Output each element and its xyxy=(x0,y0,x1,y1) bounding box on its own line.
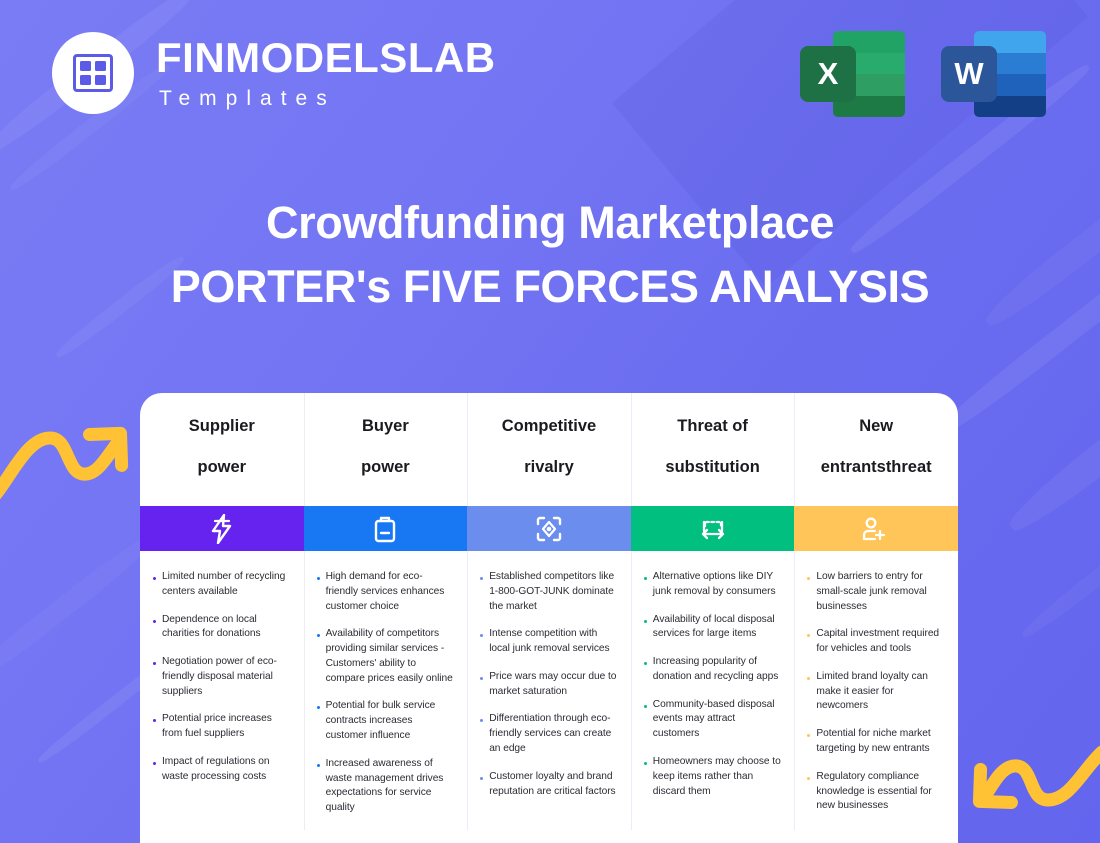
bullet-dot xyxy=(317,577,320,580)
list-item: Potential price increases from fuel supp… xyxy=(149,712,291,742)
bullet-dot xyxy=(317,706,320,709)
list-item: Availability of competitors providing si… xyxy=(313,627,455,686)
column-supplier-power: Supplier power Limited number of recycli… xyxy=(140,393,304,843)
column-header-line2: entrantsthreat xyxy=(821,457,932,478)
column-header-line1: Supplier xyxy=(189,416,255,437)
bullet-dot xyxy=(644,705,647,708)
brand-title: FINMODELSLAB xyxy=(156,37,496,79)
column-header-buyer-power: Buyer power xyxy=(304,393,468,506)
bullet-dot xyxy=(153,719,156,722)
list-item: Differentiation through eco-friendly ser… xyxy=(476,712,618,756)
header: FINMODELSLAB Templates X xyxy=(0,0,1100,150)
list-item: Capital investment required for vehicles… xyxy=(803,627,945,657)
excel-icon-letter: X xyxy=(818,56,839,92)
bullet-dot xyxy=(153,620,156,623)
bullet-dot xyxy=(317,764,320,767)
list-item: Community-based disposal events may attr… xyxy=(640,698,782,742)
column-header-new-entrants-threat: New entrantsthreat xyxy=(794,393,958,506)
bullet-dot xyxy=(644,577,647,580)
lightning-bolt-icon xyxy=(209,514,235,544)
bullet-dot xyxy=(644,620,647,623)
bullet-dot xyxy=(807,577,810,580)
column-buyer-power: Buyer power High demand for eco-friendly… xyxy=(304,393,468,843)
column-header-line2: substitution xyxy=(665,457,759,478)
briefcase-icon xyxy=(371,514,399,544)
word-icon-letter: W xyxy=(954,56,983,92)
column-header-line1: Competitive xyxy=(502,416,596,437)
background-brush-7 xyxy=(0,528,161,692)
bullet-list-buyer-power: High demand for eco-friendly services en… xyxy=(304,551,468,843)
brand-subtitle: Templates xyxy=(156,88,496,109)
list-item: Low barriers to entry for small-scale ju… xyxy=(803,570,945,614)
bullet-dot xyxy=(644,762,647,765)
list-item: Impact of regulations on waste processin… xyxy=(149,755,291,785)
bullet-dot xyxy=(153,662,156,665)
page-title: Crowdfunding Marketplace PORTER's FIVE F… xyxy=(0,196,1100,315)
list-item: High demand for eco-friendly services en… xyxy=(313,570,455,614)
word-icon: W xyxy=(941,28,1046,120)
list-item: Limited number of recycling centers avai… xyxy=(149,570,291,600)
bullet-list-supplier-power: Limited number of recycling centers avai… xyxy=(140,551,304,843)
icon-strip-new-entrants-threat xyxy=(794,506,958,551)
bullet-dot xyxy=(153,577,156,580)
bullet-dot xyxy=(480,777,483,780)
porters-five-forces-table: Supplier power Limited number of recycli… xyxy=(140,393,958,843)
column-header-line1: Threat of xyxy=(665,416,759,437)
background-brush-6 xyxy=(1003,331,1100,539)
list-item: Negotiation power of eco-friendly dispos… xyxy=(149,655,291,699)
bullet-dot xyxy=(480,719,483,722)
brand-logo[interactable]: FINMODELSLAB Templates xyxy=(52,32,496,114)
list-item: Homeowners may choose to keep items rath… xyxy=(640,755,782,799)
poster-canvas: FINMODELSLAB Templates X xyxy=(0,0,1100,843)
icon-strip-buyer-power xyxy=(304,506,468,551)
column-header-line2: power xyxy=(361,457,410,478)
list-item: Customer loyalty and brand reputation ar… xyxy=(476,770,618,800)
target-focus-icon xyxy=(534,514,564,544)
exchange-arrows-icon xyxy=(697,514,729,544)
squiggle-arrow-up-right-icon xyxy=(0,408,134,500)
column-header-supplier-power: Supplier power xyxy=(140,393,304,506)
squiggle-arrow-down-left-icon xyxy=(958,744,1100,843)
word-icon-badge: W xyxy=(941,46,997,102)
column-new-entrants-threat: New entrantsthreat Low barriers to entry… xyxy=(794,393,958,843)
column-header-line2: rivalry xyxy=(502,457,596,478)
bullet-dot xyxy=(644,662,647,665)
column-header-competitive-rivalry: Competitive rivalry xyxy=(467,393,631,506)
grid-squares-icon xyxy=(52,32,134,114)
bullet-list-competitive-rivalry: Established competitors like 1-800-GOT-J… xyxy=(467,551,631,843)
icon-strip-threat-of-substitution xyxy=(631,506,795,551)
list-item: Limited brand loyalty can make it easier… xyxy=(803,670,945,714)
list-item: Intense competition with local junk remo… xyxy=(476,627,618,657)
bullet-dot xyxy=(807,634,810,637)
bullet-dot xyxy=(807,777,810,780)
office-icon-group: X W xyxy=(800,28,1046,120)
bullet-list-threat-of-substitution: Alternative options like DIY junk remova… xyxy=(631,551,795,843)
list-item: Price wars may occur due to market satur… xyxy=(476,670,618,700)
bullet-dot xyxy=(480,577,483,580)
list-item: Established competitors like 1-800-GOT-J… xyxy=(476,570,618,614)
page-title-line2: PORTER's FIVE FORCES ANALYSIS xyxy=(0,260,1100,315)
list-item: Potential for bulk service contracts inc… xyxy=(313,699,455,743)
bullet-dot xyxy=(153,762,156,765)
list-item: Increased awareness of waste management … xyxy=(313,757,455,816)
column-header-threat-of-substitution: Threat of substitution xyxy=(631,393,795,506)
list-item: Availability of local disposal services … xyxy=(640,613,782,643)
bullet-dot xyxy=(317,634,320,637)
icon-strip-supplier-power xyxy=(140,506,304,551)
list-item: Dependence on local charities for donati… xyxy=(149,613,291,643)
bullet-dot xyxy=(807,677,810,680)
column-competitive-rivalry: Competitive rivalry Established xyxy=(467,393,631,843)
icon-strip-competitive-rivalry xyxy=(467,506,631,551)
add-user-icon xyxy=(858,514,888,544)
background-brush-9 xyxy=(1018,494,1100,642)
column-header-line2: power xyxy=(189,457,255,478)
table-grid: Supplier power Limited number of recycli… xyxy=(140,393,958,843)
bullet-dot xyxy=(480,677,483,680)
page-title-line1: Crowdfunding Marketplace xyxy=(0,196,1100,251)
bullet-list-new-entrants-threat: Low barriers to entry for small-scale ju… xyxy=(794,551,958,843)
list-item: Alternative options like DIY junk remova… xyxy=(640,570,782,600)
column-header-line1: Buyer xyxy=(361,416,410,437)
bullet-dot xyxy=(480,634,483,637)
excel-icon-badge: X xyxy=(800,46,856,102)
column-header-line1: New xyxy=(821,416,932,437)
excel-icon: X xyxy=(800,28,905,120)
list-item: Potential for niche market targeting by … xyxy=(803,727,945,757)
list-item: Increasing popularity of donation and re… xyxy=(640,655,782,685)
bullet-dot xyxy=(807,734,810,737)
column-threat-of-substitution: Threat of substitution xyxy=(631,393,795,843)
list-item: Regulatory compliance knowledge is essen… xyxy=(803,770,945,814)
